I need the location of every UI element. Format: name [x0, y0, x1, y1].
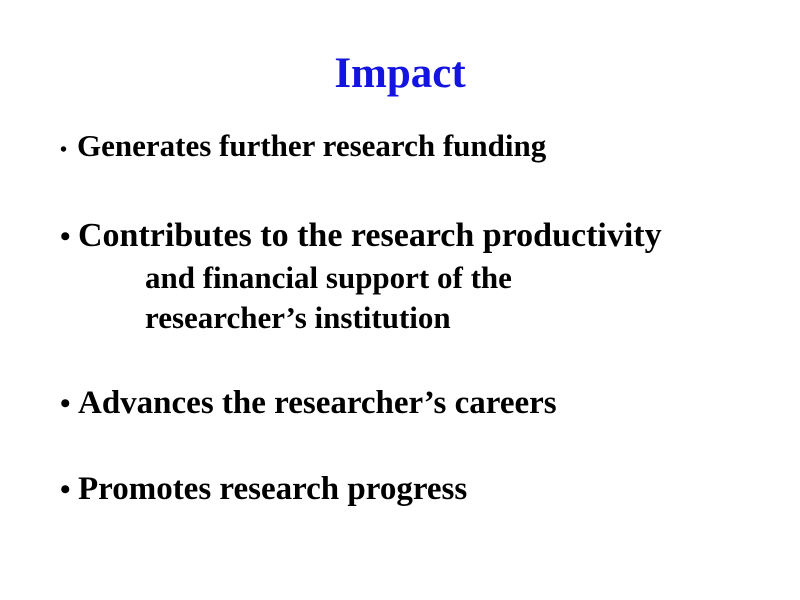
bullet-point-icon: • [60, 218, 78, 256]
bullet-continuation-line: researcher’s institution [60, 298, 780, 338]
bullet-line: •Contributes to the research productivit… [60, 215, 780, 258]
bullet-text: Contributes to the research productivity [78, 217, 662, 254]
list-item: •Generates further research funding [60, 128, 780, 163]
bullet-line: •Advances the researcher’s careers [60, 385, 780, 423]
slide-title: Impact [0, 52, 800, 95]
bullet-point-icon: • [60, 387, 78, 421]
bullet-text: Generates further research funding [77, 128, 546, 163]
bullet-text: Advances the researcher’s careers [78, 385, 557, 421]
bullet-continuation-line: and financial support of the [60, 258, 780, 298]
presentation-slide: Impact •Generates further research fundi… [0, 0, 800, 600]
list-item: •Contributes to the research productivit… [60, 215, 780, 338]
bullet-line: •Promotes research progress [60, 471, 780, 509]
bullet-line: •Generates further research funding [60, 128, 780, 163]
bullet-list: •Generates further research funding •Con… [60, 128, 780, 509]
bullet-text: Promotes research progress [78, 471, 467, 507]
bullet-point-icon: • [60, 473, 78, 507]
list-item: •Advances the researcher’s careers [60, 385, 780, 423]
bullet-point-icon: • [60, 139, 77, 162]
list-item: •Promotes research progress [60, 471, 780, 509]
